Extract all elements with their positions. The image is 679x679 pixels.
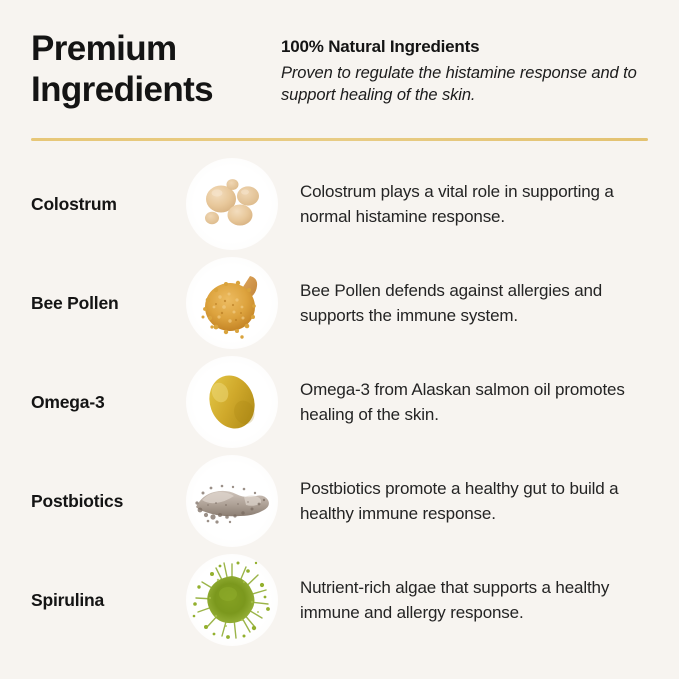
colostrum-droplets-icon (186, 158, 278, 250)
ingredient-name: Colostrum (31, 194, 181, 215)
ingredient-description: Omega-3 from Alaskan salmon oil promotes… (300, 378, 659, 427)
ingredient-name: Spirulina (31, 590, 181, 611)
ingredient-thumbnail (186, 455, 278, 547)
header-kicker: 100% Natural Ingredients (281, 37, 648, 57)
bee-pollen-granules-icon (186, 257, 278, 349)
list-item: Colostrum (0, 155, 679, 254)
ingredient-name: Bee Pollen (31, 293, 181, 314)
ingredient-thumbnail (186, 158, 278, 250)
ingredient-thumbnail (186, 257, 278, 349)
ingredient-description: Colostrum plays a vital role in supporti… (300, 180, 659, 229)
postbiotics-powder-icon (186, 455, 278, 547)
list-item: Spirulina (0, 551, 679, 650)
premium-ingredients-infographic: Premium Ingredients 100% Natural Ingredi… (0, 0, 679, 679)
header-divider (31, 138, 648, 141)
header-subtitle: Proven to regulate the histamine respons… (281, 63, 648, 107)
ingredient-description: Bee Pollen defends against allergies and… (300, 279, 659, 328)
list-item: Omega-3 (0, 353, 679, 452)
ingredient-name: Omega-3 (31, 392, 181, 413)
list-item: Bee Pollen (0, 254, 679, 353)
ingredient-description: Postbiotics promote a healthy gut to bui… (300, 477, 659, 526)
ingredient-thumbnail (186, 356, 278, 448)
ingredient-list: Colostrum (0, 155, 679, 650)
header: Premium Ingredients 100% Natural Ingredi… (31, 28, 648, 111)
spirulina-powder-icon (186, 554, 278, 646)
header-right: 100% Natural Ingredients Proven to regul… (281, 28, 648, 107)
title-block: Premium Ingredients (31, 28, 281, 111)
page-title: Premium Ingredients (31, 28, 281, 111)
omega3-softgel-icon (186, 356, 278, 448)
ingredient-name: Postbiotics (31, 491, 181, 512)
list-item: Postbiotics (0, 452, 679, 551)
ingredient-description: Nutrient-rich algae that supports a heal… (300, 576, 659, 625)
ingredient-thumbnail (186, 554, 278, 646)
